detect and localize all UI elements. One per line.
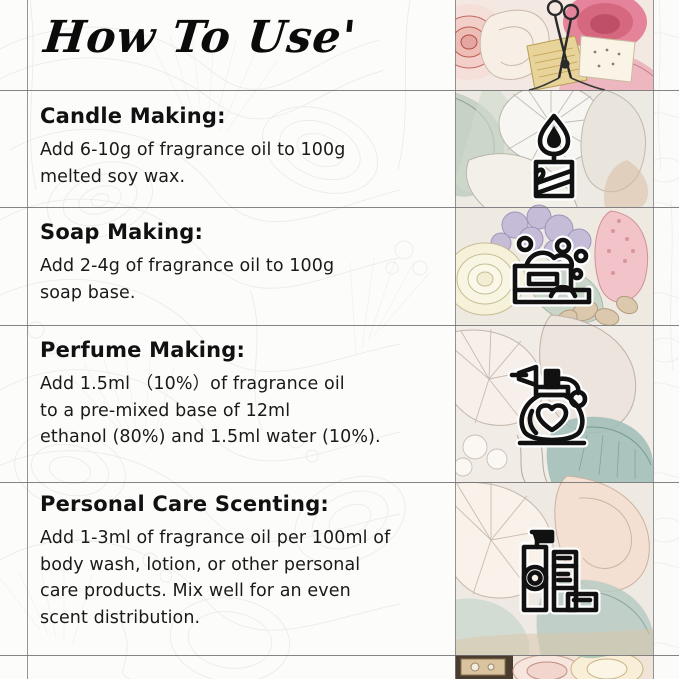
right-margin-strip [653, 0, 679, 679]
divider-perfume-care [0, 482, 679, 483]
section-body-personal-care: Add 1-3ml of fragrance oil per 100ml of … [40, 525, 445, 631]
section-body-candle: Add 6-10g of fragrance oil to 100g melte… [40, 137, 445, 190]
soap-bar-icon [507, 232, 601, 316]
body-line: ethanol (80%) and 1.5ml water (10%). [40, 424, 445, 451]
section-soap-making: Soap Making: Add 2-4g of fragrance oil t… [40, 220, 445, 306]
body-line: body wash, lotion, or other personal [40, 552, 445, 579]
divider-candle-soap [0, 207, 679, 208]
perfume-bottle-icon [506, 361, 602, 451]
body-line: Add 1-3ml of fragrance oil per 100ml of [40, 525, 445, 552]
body-line: to a pre-mixed base of 12ml [40, 398, 445, 425]
section-perfume-making: Perfume Making: Add 1.5ml （10%）of fragra… [40, 338, 445, 451]
section-heading-candle: Candle Making: [40, 104, 445, 128]
how-to-use-infographic: How To Use' Candle Making: Add 6-10g of … [0, 0, 679, 679]
page-title: How To Use' [41, 12, 358, 63]
section-personal-care-scenting: Personal Care Scenting: Add 1-3ml of fra… [40, 492, 445, 631]
divider-soap-perfume [0, 325, 679, 326]
divider-bottom [0, 655, 679, 656]
right-margin-rule [653, 0, 654, 679]
candle-icon-slot [455, 108, 653, 204]
bottom-photo-band [455, 655, 653, 679]
candle-icon [512, 110, 596, 202]
body-line: soap base. [40, 280, 445, 307]
personal-care-icon-slot [455, 524, 653, 620]
divider-title-candle [0, 90, 679, 91]
body-line: Add 6-10g of fragrance oil to 100g [40, 137, 445, 164]
section-heading-personal-care: Personal Care Scenting: [40, 492, 445, 516]
botanical-watermark-right [653, 0, 679, 679]
body-line: scent distribution. [40, 605, 445, 632]
soap-icon-slot [455, 228, 653, 320]
body-line: care products. Mix well for an even [40, 578, 445, 605]
body-line: Add 2-4g of fragrance oil to 100g [40, 253, 445, 280]
section-body-soap: Add 2-4g of fragrance oil to 100g soap b… [40, 253, 445, 306]
section-body-perfume: Add 1.5ml （10%）of fragrance oil to a pre… [40, 371, 445, 451]
section-candle-making: Candle Making: Add 6-10g of fragrance oi… [40, 104, 445, 190]
section-heading-perfume: Perfume Making: [40, 338, 445, 362]
section-heading-soap: Soap Making: [40, 220, 445, 244]
body-line: melted soy wax. [40, 164, 445, 191]
top-photo-band [455, 0, 653, 90]
left-margin-rule [27, 0, 28, 679]
lotion-bottle-icon [506, 526, 602, 618]
perfume-icon-slot [455, 358, 653, 454]
body-line: Add 1.5ml （10%）of fragrance oil [40, 371, 445, 398]
